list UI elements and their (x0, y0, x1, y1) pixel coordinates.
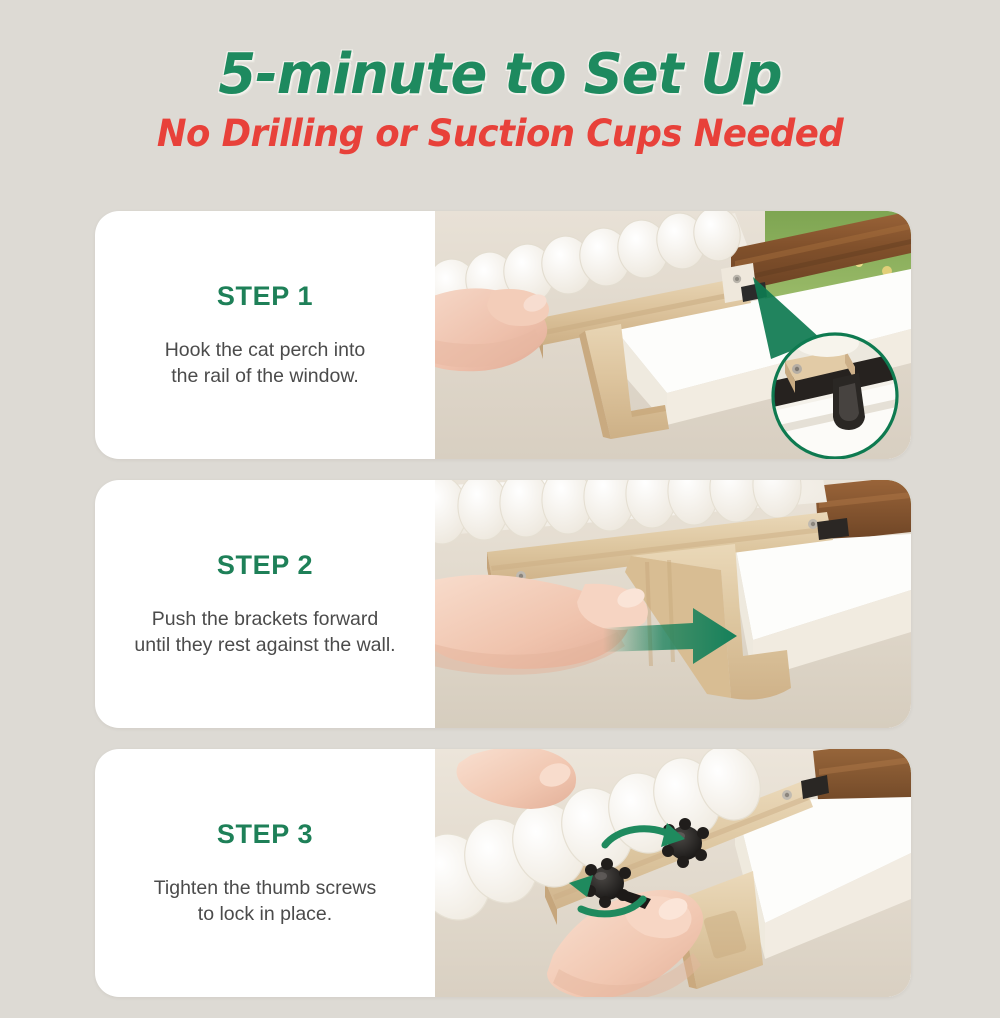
header: 5-minute to Set Up No Drilling or Suctio… (0, 0, 1000, 155)
step-card-3: STEP 3 Tighten the thumb screws to lock … (95, 749, 911, 997)
page-title: 5-minute to Set Up (15, 46, 985, 103)
steps-list: STEP 1 Hook the cat perch into the rail … (95, 211, 911, 1018)
step-3-text: STEP 3 Tighten the thumb screws to lock … (95, 749, 435, 997)
step-2-photo (435, 480, 911, 728)
step-card-1: STEP 1 Hook the cat perch into the rail … (95, 211, 911, 459)
step-3-label: STEP 3 (217, 819, 313, 850)
step-1-text: STEP 1 Hook the cat perch into the rail … (95, 211, 435, 459)
step-1-photo (435, 211, 911, 459)
step-2-text: STEP 2 Push the brackets forward until t… (95, 480, 435, 728)
step-3-description: Tighten the thumb screws to lock in plac… (154, 876, 377, 927)
step-1-label: STEP 1 (217, 281, 313, 312)
step-2-description: Push the brackets forward until they res… (134, 607, 395, 658)
step-3-photo (435, 749, 911, 997)
step-2-label: STEP 2 (217, 550, 313, 581)
step-1-description: Hook the cat perch into the rail of the … (165, 338, 366, 389)
page-subtitle: No Drilling or Suction Cups Needed (20, 112, 980, 155)
step-card-2: STEP 2 Push the brackets forward until t… (95, 480, 911, 728)
